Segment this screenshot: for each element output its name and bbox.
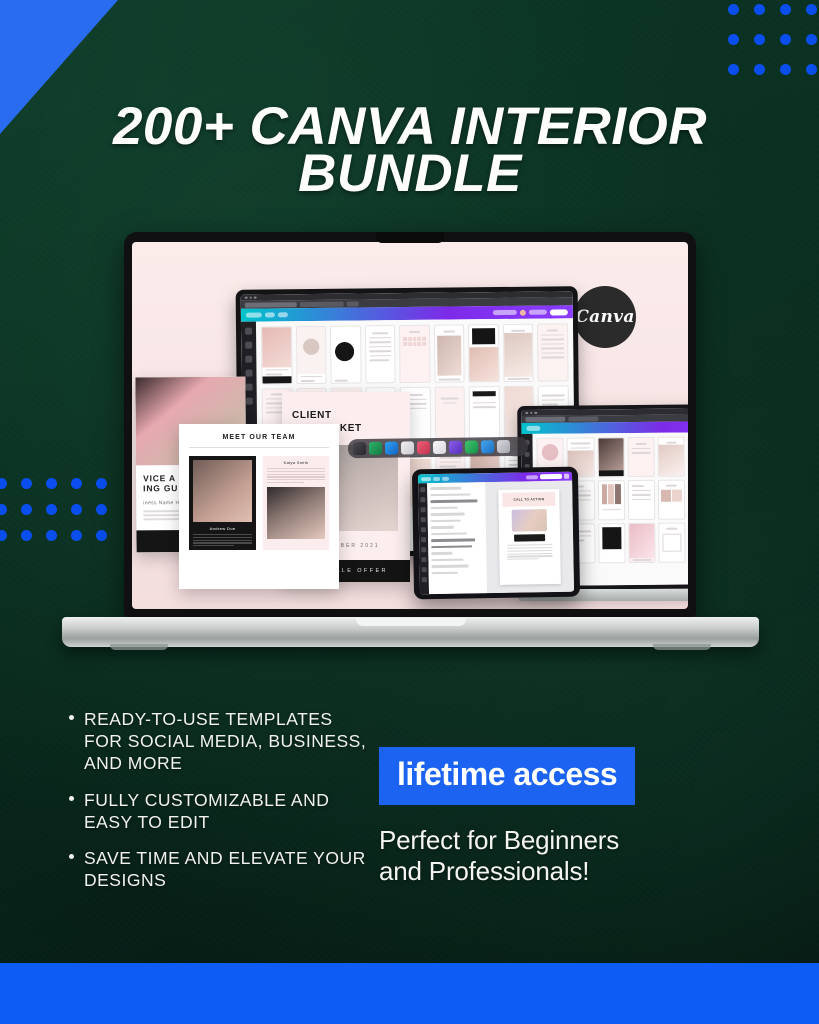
feature-item: FULLY CUSTOMIZABLE AND EASY TO EDIT: [84, 789, 372, 833]
team-member-photo: [267, 487, 325, 539]
template-thumb: [658, 480, 686, 520]
template-thumb: [399, 325, 430, 383]
team-member-bio: [193, 534, 252, 546]
macos-dock: [348, 437, 528, 459]
decor-dot: [754, 64, 765, 75]
decor-dot: [46, 478, 57, 489]
layer-item: [430, 493, 470, 496]
offer-tagline-line-2: and Professionals!: [379, 856, 779, 887]
rail-icon: [245, 356, 252, 363]
decor-dot: [21, 504, 32, 515]
dock-icon: [433, 441, 446, 454]
laptop-mockup: Canva: [62, 232, 759, 652]
client-title-line-1: CLIENT: [292, 410, 332, 421]
template-thumb: [597, 480, 625, 520]
browser-tab: [568, 416, 598, 421]
template-thumb: [330, 325, 361, 383]
template-thumb: [434, 324, 465, 382]
avatar: [520, 309, 526, 315]
template-thumb: [296, 326, 327, 384]
page-title: 200+ CANVA INTERIOR BUNDLE: [60, 104, 760, 197]
layer-item: [432, 564, 469, 567]
offer-tagline-line-1: Perfect for Beginners: [379, 825, 619, 855]
canva-editor-main: CALL TO ACTION: [418, 481, 574, 595]
canva-header-pill: [526, 426, 540, 431]
decor-dot: [0, 478, 7, 489]
document-cta-button: [514, 534, 544, 542]
headline-line-2: BUNDLE: [60, 151, 760, 198]
features-ul: READY-TO-USE TEMPLATES FOR SOCIAL MEDIA,…: [62, 708, 372, 892]
canva-header-pill: [529, 310, 547, 315]
team-columns: Andrew Doe Katya Smith: [179, 448, 339, 550]
decor-dot: [46, 530, 57, 541]
dock-icon: [497, 440, 510, 453]
layer-item: [431, 552, 452, 555]
canva-header-pill: [493, 310, 517, 315]
rail-icon: [422, 577, 427, 582]
rail-icon: [246, 398, 253, 405]
template-thumb: [469, 386, 500, 444]
rail-icon: [421, 527, 426, 532]
laptop-base-notch: [356, 618, 466, 626]
offer-block: lifetime access Perfect for Beginners an…: [379, 747, 779, 886]
lifetime-access-badge: lifetime access: [379, 747, 635, 805]
window-dot: [254, 296, 257, 299]
canva-header-pill: [246, 313, 262, 318]
document-image: [511, 509, 547, 532]
rail-icon: [245, 370, 252, 377]
layer-item: [432, 571, 458, 574]
laptop-screen: Canva: [132, 242, 688, 609]
decor-dot: [21, 530, 32, 541]
dock-icon: [481, 440, 494, 453]
tablet-mockup: CALL TO ACTION: [412, 467, 580, 600]
template-thumb: [537, 323, 568, 381]
template-thumb: [598, 523, 626, 563]
rail-icon: [421, 557, 426, 562]
decor-dot: [46, 504, 57, 515]
layer-item: [431, 532, 467, 535]
window-dot: [245, 296, 248, 299]
rail-icon: [421, 507, 426, 512]
document-heading-band: CALL TO ACTION: [503, 492, 555, 507]
dock-icon: [449, 441, 462, 454]
team-member-card-right: Katya Smith: [263, 456, 329, 550]
template-thumb: [628, 480, 656, 520]
canva-header-left: [246, 312, 288, 317]
decor-dot: [780, 4, 791, 15]
window-dot: [534, 412, 537, 415]
template-thumb: [434, 386, 465, 444]
layer-item: [431, 513, 465, 516]
browser-tab: [245, 302, 297, 308]
features-list: READY-TO-USE TEMPLATES FOR SOCIAL MEDIA,…: [62, 708, 372, 906]
rail-icon: [420, 487, 425, 492]
editor-document: CALL TO ACTION: [499, 489, 561, 585]
template-thumb: [261, 326, 292, 384]
rail-icon: [422, 567, 427, 572]
team-member-name-left: Andrew Doe: [193, 526, 252, 531]
template-thumb: [627, 437, 655, 477]
laptop-camera-notch: [376, 232, 444, 243]
flyer-card-team: MEET OUR TEAM Andrew Doe Katya Smith: [179, 424, 339, 589]
decor-dot: [754, 4, 765, 15]
team-member-name-right: Katya Smith: [267, 460, 325, 465]
canva-share-button: [550, 309, 568, 315]
dock-icon: [465, 440, 478, 453]
layer-item: [431, 538, 475, 541]
template-thumb: [503, 324, 534, 382]
team-member-photo: [193, 460, 252, 522]
template-thumb: [468, 324, 499, 382]
browser-tab: [347, 301, 359, 306]
canva-header-right: [493, 309, 568, 316]
dot-grid-top-right: [728, 4, 819, 94]
decor-dot: [780, 34, 791, 45]
laptop-lid: Canva: [124, 232, 696, 617]
decor-dot: [806, 34, 817, 45]
dock-icon: [385, 442, 398, 455]
decor-dot: [806, 4, 817, 15]
editor-canvas: CALL TO ACTION: [485, 481, 574, 594]
canva-header-left: [526, 426, 540, 431]
layer-item: [431, 558, 463, 561]
layer-item: [431, 519, 461, 522]
decor-dot: [780, 64, 791, 75]
layer-item: [431, 526, 454, 529]
decor-dot: [728, 4, 739, 15]
window-dot: [530, 412, 533, 415]
team-member-card-left: Andrew Doe: [189, 456, 256, 550]
template-thumb: [658, 523, 686, 563]
template-thumb: [628, 523, 656, 563]
decor-dot: [728, 34, 739, 45]
decor-dot: [728, 64, 739, 75]
template-thumb: [658, 437, 686, 477]
rail-icon: [421, 547, 426, 552]
dock-icon: [353, 442, 366, 455]
template-thumb: [365, 325, 396, 383]
dock-icon: [417, 441, 430, 454]
rail-icon: [420, 497, 425, 502]
layer-item: [431, 506, 458, 509]
offer-tagline: Perfect for Beginners and Professionals!: [379, 825, 779, 886]
feature-item: SAVE TIME AND ELEVATE YOUR DESIGNS: [84, 847, 372, 891]
laptop-base: [62, 617, 759, 647]
decor-dot: [0, 504, 7, 515]
canva-logo-badge: Canva: [574, 286, 636, 348]
poster-canvas: 200+ CANVA INTERIOR BUNDLE Canva: [0, 0, 819, 1024]
card-heading: MEET OUR TEAM: [189, 424, 329, 448]
editor-layers-panel: [427, 482, 487, 594]
canva-header-pill: [278, 312, 288, 317]
window-dot: [525, 412, 528, 415]
dock-icon: [369, 442, 382, 455]
decor-dot: [754, 34, 765, 45]
decor-dot: [0, 530, 7, 541]
layer-item: [430, 499, 477, 502]
laptop-foot-left: [110, 644, 168, 650]
canva-editor: CALL TO ACTION: [418, 472, 574, 595]
rail-icon: [421, 517, 426, 522]
rail-icon: [245, 342, 252, 349]
canva-header-pill: [265, 312, 275, 317]
dock-icon: [401, 441, 414, 454]
browser-tab: [300, 301, 344, 306]
template-thumb: [597, 437, 625, 477]
layer-item: [430, 487, 461, 490]
window-dot: [249, 296, 252, 299]
browser-tab: [525, 417, 565, 422]
rail-icon: [246, 384, 253, 391]
team-member-bio: [267, 468, 325, 483]
rail-icon: [421, 537, 426, 542]
feature-item: READY-TO-USE TEMPLATES FOR SOCIAL MEDIA,…: [84, 708, 372, 775]
layer-item: [431, 545, 472, 548]
decor-dot: [806, 64, 817, 75]
document-heading: CALL TO ACTION: [513, 497, 544, 502]
laptop-foot-right: [653, 644, 711, 650]
bottom-accent-bar: [0, 963, 819, 1024]
rail-icon: [245, 328, 252, 335]
canva-logo-label: Canva: [575, 307, 634, 327]
document-body-text: [507, 544, 552, 560]
decor-dot: [21, 478, 32, 489]
